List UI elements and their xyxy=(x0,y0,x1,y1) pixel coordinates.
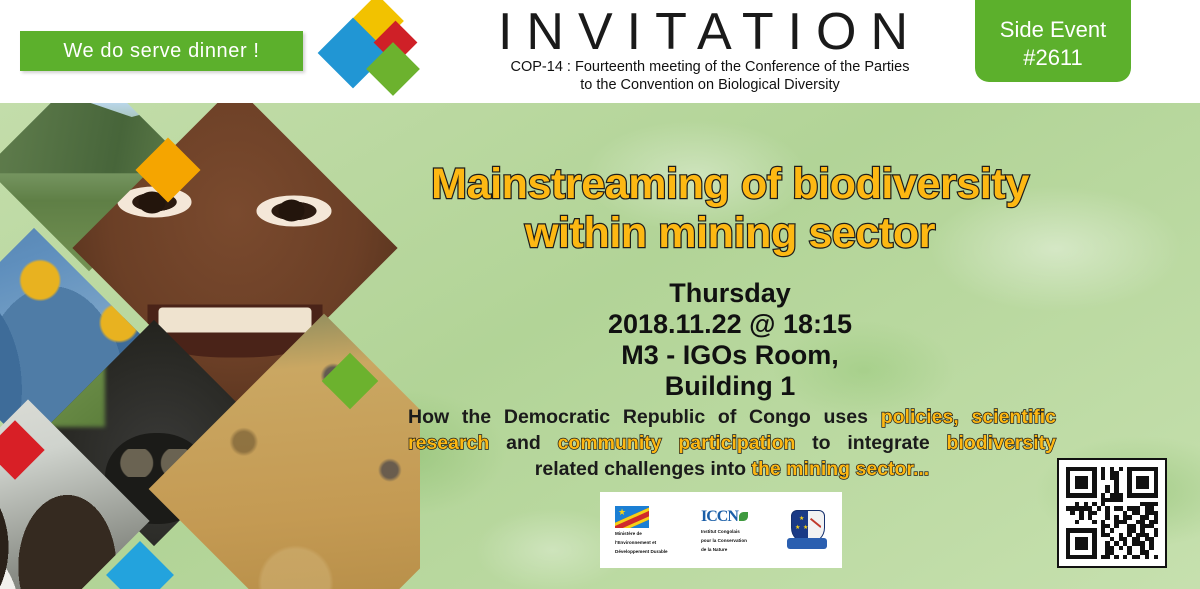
ministry-caption-line2: l'Environnement et xyxy=(615,540,656,546)
event-datetime: 2018.11.22 @ 18:15 xyxy=(520,309,940,340)
event-description: How the Democratic Republic of Congo use… xyxy=(408,404,1056,482)
description-text: How the Democratic Republic of Congo use… xyxy=(408,406,881,428)
iccn-caption-line2: pour la Conservation xyxy=(701,538,747,544)
dinner-banner-label: We do serve dinner ! xyxy=(63,40,259,63)
description-highlight: community participation xyxy=(558,432,796,454)
ministry-environment-logo: ★ Ministère de l'Environnement et Dévelo… xyxy=(615,506,687,555)
iccn-mark-icon: ICCN xyxy=(701,508,748,526)
cop-subtitle: COP-14 : Fourteenth meeting of the Confe… xyxy=(420,58,1000,94)
event-day: Thursday xyxy=(520,278,940,309)
ministry-caption-line1: Ministère de xyxy=(615,531,642,537)
dinner-banner: We do serve dinner ! xyxy=(20,31,303,71)
iccn-caption-line1: Institut Congolais xyxy=(701,529,740,535)
header-band: We do serve dinner ! INVITATION COP-14 :… xyxy=(0,0,1200,103)
iccn-wordmark: ICCN xyxy=(701,508,738,526)
side-event-badge: Side Event #2611 xyxy=(975,0,1131,82)
star-icon: ★ xyxy=(799,515,804,522)
description-text: related challenges into xyxy=(535,458,752,480)
star-icon: ★ xyxy=(795,524,800,531)
event-building: Building 1 xyxy=(520,371,940,402)
event-schedule: Thursday 2018.11.22 @ 18:15 M3 - IGOs Ro… xyxy=(520,278,940,402)
event-room: M3 - IGOs Room, xyxy=(520,340,940,371)
cop-subtitle-line1: COP-14 : Fourteenth meeting of the Confe… xyxy=(420,58,1000,76)
side-event-label: Side Event xyxy=(1000,16,1106,44)
description-highlight: biodiversity xyxy=(947,432,1056,454)
event-title-line1: Mainstreaming of biodiversity xyxy=(380,160,1080,209)
partner-logos-panel: ★ Ministère de l'Environnement et Dévelo… xyxy=(600,492,842,568)
cop14-diamond-logo xyxy=(316,2,428,98)
description-text: to integrate xyxy=(795,432,946,454)
cop-subtitle-line2: to the Convention on Biological Diversit… xyxy=(420,76,1000,94)
drc-flag-icon: ★ xyxy=(615,506,649,528)
crest-scroll-banner xyxy=(787,538,827,549)
description-text: and xyxy=(489,432,557,454)
qr-code[interactable] xyxy=(1057,458,1167,568)
star-icon: ★ xyxy=(803,524,808,531)
event-title: Mainstreaming of biodiversity within min… xyxy=(380,160,1080,258)
qr-modules xyxy=(1066,467,1158,559)
invitation-poster: Mainstreaming of biodiversity within min… xyxy=(0,0,1200,589)
ministry-caption-line3: Développement Durable xyxy=(615,549,668,555)
iccn-logo: ICCN Institut Congolais pour la Conserva… xyxy=(701,508,773,553)
page-title: INVITATION xyxy=(430,4,990,60)
iccn-caption-line3: de la Nature xyxy=(701,547,727,553)
event-title-line2: within mining sector xyxy=(380,209,1080,258)
photo-collage xyxy=(0,103,420,589)
leaf-icon xyxy=(739,512,748,521)
side-event-number: #2611 xyxy=(1023,44,1083,72)
mining-institution-crest-logo: ★ ★ ★ xyxy=(787,508,827,552)
description-highlight: the mining sector... xyxy=(752,458,930,480)
